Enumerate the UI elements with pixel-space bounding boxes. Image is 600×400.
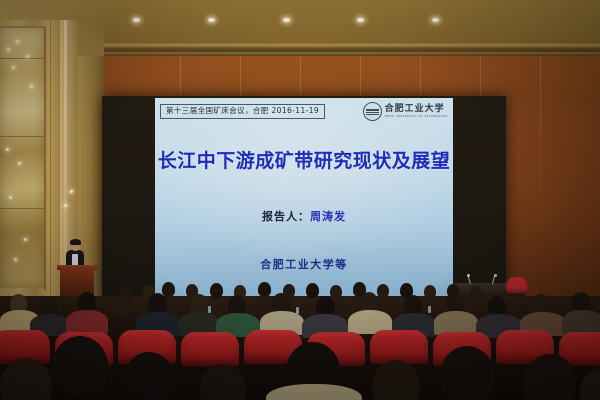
audience-shoulders-foreground (266, 384, 362, 400)
mirror-sparkle (7, 48, 10, 51)
audience-head (210, 283, 223, 298)
auditorium-chair (370, 330, 428, 364)
mirror-sparkle (26, 55, 29, 58)
audience-head (470, 286, 482, 300)
audience-head (330, 285, 342, 299)
water-bottle (208, 306, 211, 313)
mirror-divider (0, 136, 44, 137)
audience-head-foreground (124, 352, 174, 400)
microphone-head (494, 274, 497, 277)
slide-affiliation: 合肥工业大学等 (155, 256, 453, 272)
audience-head-foreground (580, 368, 600, 400)
audience-head-foreground (440, 346, 494, 400)
audience-head (424, 285, 436, 299)
mirror-sparkle (9, 196, 12, 199)
audience (0, 280, 600, 400)
projection-slide: 第十三届全国矿床会议，合肥 2016-11-19 合肥工业大学 HEFEI UN… (155, 98, 453, 298)
water-bottle (296, 307, 299, 314)
audience-head (112, 296, 129, 316)
mirror-sparkle (6, 148, 9, 151)
university-name-en: HEFEI UNIVERSITY OF TECHNOLOGY (385, 115, 448, 118)
pillar-sparkle (64, 204, 67, 207)
mirror-sparkle (16, 40, 19, 43)
pillar-sparkle (70, 190, 73, 193)
audience-shoulders (66, 310, 108, 334)
audience-head (258, 282, 271, 297)
auditorium-chair (181, 332, 239, 366)
microphone-head (467, 274, 470, 277)
audience-head (162, 282, 175, 297)
ceiling-light-3 (283, 18, 290, 22)
audience-head-foreground (0, 358, 52, 400)
mirror-frame (0, 26, 46, 290)
ceiling-light-1 (133, 18, 140, 22)
mirror-sparkle (24, 238, 27, 241)
ceiling-light-5 (432, 18, 439, 22)
university-logo-text: 合肥工业大学 HEFEI UNIVERSITY OF TECHNOLOGY (385, 105, 448, 118)
audience-shoulders (562, 310, 600, 334)
mirror-sparkle (14, 258, 17, 261)
audience-head-foreground (372, 360, 420, 400)
university-name-cn: 合肥工业大学 (385, 105, 448, 114)
audience-head (377, 284, 389, 298)
presenter-label: 报告人： (262, 210, 310, 223)
audience-head-foreground (200, 364, 246, 400)
mirror-sparkle (12, 66, 15, 69)
mirror-divider (0, 58, 44, 59)
slide-presenter-line: 报告人：周涛发 (155, 208, 453, 224)
university-logo: 合肥工业大学 HEFEI UNIVERSITY OF TECHNOLOGY (363, 102, 448, 121)
mirror-divider (0, 208, 44, 209)
water-bottle (428, 306, 431, 313)
audience-head (306, 283, 319, 298)
university-seal-emblem (363, 102, 382, 121)
audience-head-foreground (52, 336, 108, 396)
wall-groove (50, 20, 51, 320)
slide-title: 长江中下游成矿带研究现状及展望 (155, 146, 453, 173)
slide-header-banner: 第十三届全国矿床会议，合肥 2016-11-19 (160, 104, 325, 119)
speaker-hair (70, 239, 81, 245)
conference-hall-photo: 第十三届全国矿床会议，合肥 2016-11-19 合肥工业大学 HEFEI UN… (0, 0, 600, 400)
mirror-sparkle (18, 162, 21, 165)
ceiling-light-2 (208, 18, 215, 22)
ceiling-light-4 (357, 18, 364, 22)
presenter-name: 周涛发 (310, 210, 346, 223)
mirror-sparkle (30, 85, 33, 88)
